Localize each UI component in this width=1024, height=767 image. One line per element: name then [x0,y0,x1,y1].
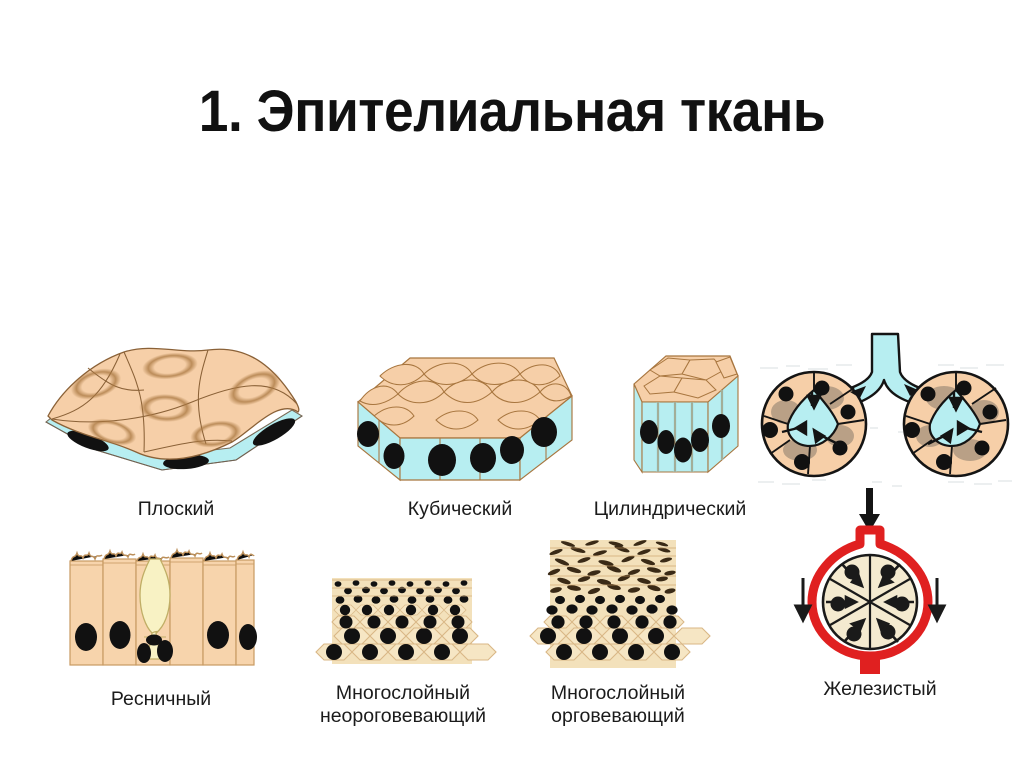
diagram-stratified-keratinized [550,540,676,668]
glandular-illustration [800,528,940,678]
acinar-gland-illustration [752,332,1018,502]
diagram-glandular [800,528,940,678]
caption-cuboidal: Кубический [355,498,565,521]
ciliated-illustration [66,545,256,670]
keratinized-illustration [550,540,676,668]
columnar-illustration [620,350,750,490]
diagram-ciliated [66,545,256,670]
diagram-acinar-gland [752,332,1018,502]
squamous-illustration [40,340,310,490]
slide-canvas: 1. Эпителиальная ткань [0,0,1024,767]
caption-ciliated: Ресничный [56,688,266,711]
caption-squamous: Плоский [96,498,256,521]
honeycomb-illustration [332,578,472,664]
cuboidal-illustration [340,350,590,490]
diagram-cuboidal [340,350,590,490]
caption-stratified-nonkeratinized: Многослойный неороговевающий [300,682,506,728]
diagram-columnar [620,350,750,490]
caption-stratified-keratinized: Многослойный орговевающий [518,682,718,728]
diagram-stratified-nonkeratinized [332,578,472,664]
caption-glandular: Железистый [800,678,960,701]
page-title: 1. Эпителиальная ткань [41,78,983,145]
diagram-squamous [40,340,310,490]
